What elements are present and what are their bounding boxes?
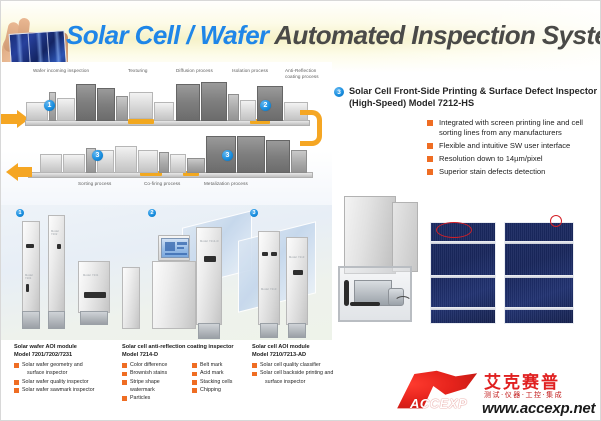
bullet-square-icon (427, 169, 433, 175)
product-badge-2: 2 (148, 209, 156, 217)
cabinet-port (26, 244, 34, 248)
cabinet-model-text: Model 7201 (25, 274, 39, 280)
list-item: Acid mark (192, 370, 242, 378)
page-title: Solar Cell / Wafer Automated Inspection … (66, 20, 601, 51)
process-badge-1: 1 (44, 100, 55, 111)
feature-text: Superior stain defects detection (439, 167, 545, 176)
process-badge-2: 2 (260, 100, 271, 111)
product3-cabinet-a: Model 7210 (258, 231, 280, 325)
caption1-list: Solar wafer geometry and surface inspect… (14, 362, 116, 395)
list-item-text: Belt mark (200, 362, 222, 368)
caption3-list: Solar cell quality classifier Solar cell… (252, 362, 362, 387)
machine-cabinet-side (392, 202, 418, 272)
bullet-square-icon (14, 380, 19, 385)
machine-r2-11 (237, 136, 265, 173)
product-photo-strip: 1 Model 7201 Model 7202 Model 7231 2 (0, 205, 332, 340)
list-item-text: Stacking cells (200, 379, 232, 385)
machine-r1-12 (240, 100, 256, 121)
bullet-square-icon (192, 388, 197, 393)
product3-legs-b (288, 323, 306, 338)
list-item-continuation: surface inspector (252, 379, 362, 387)
machine-cabinet-front (344, 196, 396, 274)
caption2-column-2: Belt mark Acid mark Stacking cells Chipp… (192, 362, 242, 404)
process-label-metalization: Metalization process (204, 181, 248, 187)
process-label-cofiring: Co-firing process (144, 181, 180, 187)
product1-cabinet-a: Model 7201 (22, 221, 40, 313)
cabinet-port (204, 256, 216, 262)
product1-cabinet-b: Model 7202 (48, 215, 65, 313)
yellow-marker-1 (128, 119, 154, 124)
info-panel-title: Solar Cell Front-Side Printing & Surface… (349, 86, 599, 110)
screen-graphic-4 (165, 253, 187, 255)
list-item-text: Acid mark (200, 370, 224, 376)
product1-cabinet-c: Model 7231 (78, 261, 110, 313)
process-label-sorting: Sorting process (78, 181, 111, 187)
list-item: Color difference (122, 362, 184, 370)
product2-legs (198, 323, 220, 339)
process-label-texturing: Texturing (128, 68, 148, 74)
caption-product-1: Solar wafer AOI module Model 7201/7202/7… (14, 343, 116, 395)
bullet-square-icon (427, 156, 433, 162)
process-label-isolation: Isolation process (232, 68, 268, 74)
product2-main-cabinet: Model 7214-D (196, 227, 222, 325)
solar-cell-photo-right (504, 222, 574, 324)
list-item-text: surface inspector (27, 370, 67, 376)
bullet-square-icon (427, 143, 433, 149)
screen-graphic-1 (165, 242, 175, 251)
cabinet-model-text: Model 7213 (289, 256, 305, 259)
busbar-2 (431, 275, 495, 278)
company-logo-block: ACCEXP 艾克赛普 测试·仪器·工控·集成 www.accexp.net (390, 366, 601, 421)
process-label-anti-reflection: Anti-Reflection coating process (285, 68, 327, 80)
caption-product-3: Solar cell AOI module Model 7210/7213-AD… (252, 343, 362, 387)
list-item-text: Solar wafer geometry and (22, 362, 83, 368)
feature-item: Flexible and intuitive SW user interface (427, 141, 601, 151)
product1-legs-a (22, 311, 40, 329)
product-badge-3: 3 (250, 209, 258, 217)
process-badge-3a: 3 (92, 150, 103, 161)
cabinet-model-text: Model 7214-D (200, 240, 219, 243)
caption1-title-line1: Solar wafer AOI module (14, 343, 116, 351)
list-item-text: Solar wafer quality inspector (22, 379, 89, 385)
company-website-url[interactable]: www.accexp.net (482, 400, 595, 417)
machine-r1-11 (228, 94, 239, 121)
process-label-wafer-incoming: Wafer incoming inspection (33, 68, 89, 74)
product1-legs-b (48, 311, 65, 329)
list-item: Solar cell quality classifier (252, 362, 362, 370)
busbar-3 (505, 307, 573, 310)
title-dark-part: Automated Inspection Systems (274, 20, 601, 50)
list-item: Solar cell backside printing and (252, 370, 362, 378)
machine-r1-5 (97, 88, 115, 121)
busbar-1 (431, 241, 495, 244)
machine-r1-10 (201, 82, 227, 121)
info-panel-feature-list: Integrated with screen printing line and… (427, 118, 601, 180)
list-item: Solar wafer geometry and (14, 362, 116, 370)
busbar-1 (505, 241, 573, 244)
list-item-text: Stripe shape watermark (130, 379, 160, 393)
product3-legs-a (260, 323, 278, 338)
busbar-3 (431, 307, 495, 310)
bullet-square-icon (427, 120, 433, 126)
list-item-continuation: surface inspector (14, 370, 116, 378)
machine-r2-7 (159, 152, 169, 173)
product-badge-1: 1 (16, 209, 24, 217)
bullet-square-icon (14, 388, 19, 393)
feature-item: Superior stain defects detection (427, 167, 601, 177)
product-info-panel: 3 Solar Cell Front-Side Printing & Surfa… (327, 86, 601, 198)
logo-chinese-tagline: 测试·仪器·工控·集成 (484, 390, 563, 400)
defect-marker-ellipse-right (550, 215, 562, 227)
list-item: Stripe shape watermark (122, 379, 184, 395)
machine-r1-8 (154, 102, 174, 121)
machine-wire-loop (394, 296, 412, 310)
list-item: Solar wafer quality inspector (14, 379, 116, 387)
caption3-title-line2: Model 7210/7213-AD (252, 351, 362, 359)
defect-marker-ellipse-left (436, 222, 472, 238)
list-item-text: Solar wafer sawmark inspector (22, 387, 94, 393)
bullet-square-icon (252, 363, 257, 368)
list-item-text: Particles (130, 395, 150, 401)
machine-cable-2 (350, 302, 380, 306)
flow-ubend (300, 110, 322, 146)
machine-r2-9 (187, 158, 205, 173)
machine-r2-1 (40, 154, 62, 173)
accexp-logo-mark: ACCEXP (392, 366, 480, 414)
cabinet-slot-wide (84, 292, 106, 298)
feature-text: Integrated with screen printing line and… (439, 118, 583, 137)
feature-text: Flexible and intuitive SW user interface (439, 141, 570, 150)
machine-r2-6 (138, 150, 158, 173)
list-item: Solar wafer sawmark inspector (14, 387, 116, 395)
cabinet-model-text: Model 7210 (261, 288, 277, 291)
caption2-list-columns: Color difference Brownish stains Stripe … (122, 362, 250, 404)
bullet-square-icon (122, 396, 127, 401)
machine-r2-12 (266, 140, 290, 173)
caption-product-2: Solar cell anti-reflection coating inspe… (122, 343, 250, 403)
cabinet-port (293, 270, 303, 275)
list-item-text: Chipping (200, 387, 221, 393)
machine-r2-2 (63, 154, 85, 173)
cabinet-port-2 (271, 252, 277, 256)
cabinet-port (57, 244, 61, 249)
monitor-screen (161, 238, 189, 258)
caption2-title-line2: Model 7214-D (122, 351, 250, 359)
machine-r1-9 (176, 84, 200, 121)
info-panel-badge: 3 (334, 87, 344, 97)
caption2-title-line1: Solar cell anti-reflection coating inspe… (122, 343, 250, 351)
solar-cell-photo-left (430, 222, 496, 324)
list-item-text: surface inspector (265, 379, 305, 385)
list-item: Brownish stains (122, 370, 184, 378)
machine-r1-3 (57, 98, 75, 121)
list-item: Particles (122, 395, 184, 403)
caption3-title-line1: Solar cell AOI module (252, 343, 362, 351)
poster-root: Solar Cell / Wafer Automated Inspection … (0, 0, 601, 421)
product3-cabinet-b: Model 7213 (286, 237, 308, 325)
process-flow-diagram: Wafer incoming inspection Texturing Diff… (0, 62, 332, 210)
process-label-diffusion: Diffusion process (176, 68, 213, 74)
busbar-2 (505, 275, 573, 278)
bullet-square-icon (192, 372, 197, 377)
process-badge-3b: 3 (222, 150, 233, 161)
screen-graphic-2 (177, 242, 187, 245)
bullet-square-icon (122, 380, 127, 385)
operator-monitor (158, 235, 190, 261)
logo-mark-text: ACCEXP (410, 396, 467, 411)
bullet-square-icon (122, 363, 127, 368)
bullet-square-icon (192, 380, 197, 385)
machine-r1-6 (116, 96, 128, 121)
cabinet-model-text: Model 7202 (51, 230, 64, 236)
screen-graphic-3 (177, 247, 184, 249)
flow-arrow-stem-out (18, 167, 32, 177)
machine-cable-1 (344, 280, 349, 306)
machine-r2-5 (115, 146, 137, 173)
list-item: Chipping (192, 387, 242, 395)
title-blue-part: Solar Cell / Wafer (66, 20, 269, 50)
machine-r2-13 (291, 150, 307, 173)
flow-arrow-head-out (6, 163, 18, 181)
flow-arrow-stem-in (0, 114, 18, 124)
product2-workstation-desk (152, 261, 196, 329)
caption1-title-line2: Model 7201/7202/7231 (14, 351, 116, 359)
feature-item: Resolution down to 14µm/pixel (427, 154, 601, 164)
product2-cabinet-side (122, 267, 140, 329)
bullet-square-icon (252, 372, 257, 377)
bullet-square-icon (122, 372, 127, 377)
bullet-square-icon (14, 363, 19, 368)
cabinet-slot (26, 284, 29, 292)
caption2-column-1: Color difference Brownish stains Stripe … (122, 362, 184, 404)
machine-r1-4 (76, 84, 96, 121)
feature-text: Resolution down to 14µm/pixel (439, 154, 543, 163)
machine-r1-7 (129, 92, 153, 119)
bullet-square-icon (192, 363, 197, 368)
feature-item: Integrated with screen printing line and… (427, 118, 601, 139)
machine-r2-8 (170, 154, 186, 173)
list-item-text: Solar cell quality classifier (260, 362, 321, 368)
cabinet-model-text: Model 7231 (83, 274, 99, 277)
list-item-text: Solar cell backside printing and (260, 370, 333, 376)
cabinet-port (262, 252, 268, 256)
list-item: Stacking cells (192, 379, 242, 387)
product1-legs-c (80, 311, 108, 325)
list-item-text: Color difference (130, 362, 167, 368)
list-item-text: Brownish stains (130, 370, 167, 376)
list-item: Belt mark (192, 362, 242, 370)
inspector-7212hs-photo (332, 196, 428, 336)
